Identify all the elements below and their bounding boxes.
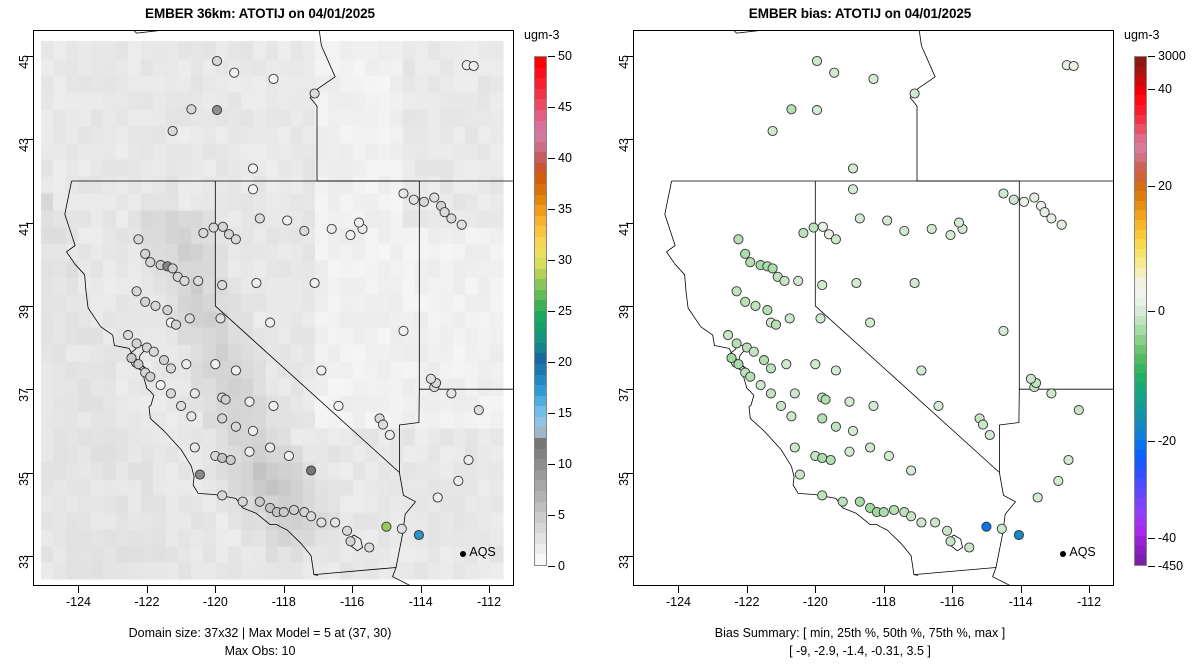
colorbar-segment	[1135, 190, 1146, 201]
station-marker[interactable]	[163, 306, 172, 315]
station-marker[interactable]	[269, 74, 278, 83]
x-tick	[815, 586, 816, 593]
station-marker[interactable]	[266, 318, 275, 327]
colorbar-segment	[535, 521, 546, 533]
colorbar-segment	[535, 352, 546, 364]
station-marker[interactable]	[818, 414, 827, 423]
station-marker[interactable]	[212, 106, 221, 115]
x-tick	[78, 586, 79, 593]
station-marker[interactable]	[231, 235, 240, 244]
station-marker[interactable]	[245, 397, 254, 406]
colorbar-segment	[535, 183, 546, 195]
station-marker[interactable]	[307, 466, 316, 475]
station-marker[interactable]	[741, 249, 750, 258]
station-marker[interactable]	[931, 518, 940, 527]
station-marker[interactable]	[433, 493, 442, 502]
station-marker[interactable]	[419, 197, 428, 206]
station-marker[interactable]	[190, 389, 199, 398]
station-marker[interactable]	[790, 389, 799, 398]
caption-model-line2: Max Obs: 10	[0, 644, 520, 658]
station-marker[interactable]	[168, 264, 177, 273]
station-marker[interactable]	[346, 231, 355, 240]
station-marker[interactable]	[866, 443, 875, 452]
colorbar-segment	[535, 204, 546, 216]
station-marker[interactable]	[848, 164, 857, 173]
station-marker[interactable]	[927, 224, 936, 233]
station-marker[interactable]	[794, 276, 803, 285]
station-marker[interactable]	[734, 235, 743, 244]
station-marker[interactable]	[195, 470, 204, 479]
station-marker[interactable]	[889, 505, 898, 514]
station-marker[interactable]	[409, 195, 418, 204]
station-marker[interactable]	[985, 430, 994, 439]
x-tick	[952, 586, 953, 593]
station-marker[interactable]	[216, 314, 225, 323]
colorbar-segment	[1135, 315, 1146, 326]
station-marker[interactable]	[430, 193, 439, 202]
station-marker[interactable]	[171, 320, 180, 329]
x-tick-label: -124	[66, 595, 91, 609]
station-marker[interactable]	[848, 185, 857, 194]
station-marker[interactable]	[134, 235, 143, 244]
station-marker[interactable]	[900, 226, 909, 235]
panel-model: EMBER 36km: ATOTIJ on 04/01/2025 AQS 454…	[0, 0, 600, 672]
map-plot-model[interactable]: AQS	[33, 30, 514, 586]
colorbar-segment	[535, 267, 546, 279]
station-marker[interactable]	[845, 397, 854, 406]
station-marker[interactable]	[1074, 406, 1083, 415]
station-marker[interactable]	[943, 526, 952, 535]
x-tick	[284, 586, 285, 593]
x-tick	[215, 586, 216, 593]
station-marker[interactable]	[869, 401, 878, 410]
colorbar-segment	[1135, 267, 1146, 278]
x-tick	[678, 586, 679, 593]
station-marker[interactable]	[848, 426, 857, 435]
station-marker[interactable]	[766, 364, 775, 373]
colorbar-segment	[535, 66, 546, 78]
station-marker[interactable]	[732, 339, 741, 348]
colorbar-segment	[1135, 56, 1146, 67]
station-marker[interactable]	[907, 512, 916, 521]
station-marker[interactable]	[365, 543, 374, 552]
station-marker[interactable]	[768, 126, 777, 135]
border-california-nevada	[215, 181, 399, 473]
station-marker[interactable]	[812, 56, 821, 65]
station-marker[interactable]	[447, 389, 456, 398]
station-marker[interactable]	[414, 530, 423, 539]
station-marker[interactable]	[831, 235, 840, 244]
station-marker[interactable]	[818, 453, 827, 462]
station-marker[interactable]	[310, 89, 319, 98]
station-marker[interactable]	[782, 360, 791, 369]
station-marker[interactable]	[248, 185, 257, 194]
colorbar-segment	[1135, 516, 1146, 527]
station-marker[interactable]	[378, 420, 387, 429]
colorbar-segment	[1135, 372, 1146, 383]
x-tick	[489, 586, 490, 593]
station-marker[interactable]	[255, 497, 264, 506]
station-marker[interactable]	[746, 258, 755, 267]
station-marker[interactable]	[756, 381, 765, 390]
colorbar-segment	[535, 373, 546, 385]
colorbar-tick	[548, 464, 555, 465]
station-marker[interactable]	[354, 218, 363, 227]
colorbar-segment	[535, 130, 546, 142]
station-marker[interactable]	[799, 228, 808, 237]
station-marker[interactable]	[787, 412, 796, 421]
station-marker[interactable]	[759, 356, 768, 365]
station-marker[interactable]	[284, 451, 293, 460]
station-marker[interactable]	[883, 216, 892, 225]
station-marker[interactable]	[221, 395, 230, 404]
station-marker[interactable]	[879, 508, 888, 517]
colorbar-segment	[535, 56, 546, 68]
station-marker[interactable]	[146, 258, 155, 267]
station-marker[interactable]	[457, 220, 466, 229]
station-marker[interactable]	[795, 470, 804, 479]
y-tick-label: 41	[17, 222, 31, 236]
y-tick-label: 37	[17, 388, 31, 402]
border-oregon-idaho	[310, 31, 335, 181]
station-marker[interactable]	[746, 372, 755, 381]
colorbar-segment	[1135, 75, 1146, 86]
station-marker[interactable]	[910, 89, 919, 98]
station-marker[interactable]	[310, 278, 319, 287]
station-marker[interactable]	[185, 314, 194, 323]
colorbar-segment	[1135, 458, 1146, 469]
x-tick-label: -122	[134, 595, 159, 609]
station-marker[interactable]	[869, 74, 878, 83]
station-marker[interactable]	[212, 56, 221, 65]
station-marker[interactable]	[474, 406, 483, 415]
station-marker[interactable]	[845, 447, 854, 456]
x-tick-label: -118	[272, 595, 296, 609]
colorbar-tick-label: -20	[1158, 434, 1176, 448]
station-marker[interactable]	[132, 287, 141, 296]
station-marker[interactable]	[255, 214, 264, 223]
colorbar-tick-label: 40	[558, 151, 572, 165]
colorbar-segment	[535, 98, 546, 110]
station-marker[interactable]	[1069, 61, 1078, 70]
station-marker[interactable]	[399, 189, 408, 198]
station-marker[interactable]	[385, 430, 394, 439]
station-marker[interactable]	[300, 226, 309, 235]
station-marker[interactable]	[327, 224, 336, 233]
colorbar-bias: ugm-3 -450-40-20020403000	[1120, 30, 1200, 586]
station-marker[interactable]	[426, 374, 435, 383]
station-marker[interactable]	[334, 401, 343, 410]
y-tick-label: 39	[617, 305, 631, 319]
station-marker[interactable]	[768, 264, 777, 273]
station-marker[interactable]	[751, 301, 760, 310]
colorbar-model-gradient	[534, 56, 547, 566]
station-marker[interactable]	[382, 522, 391, 531]
colorbar-segment	[535, 140, 546, 152]
colorbar-segment	[535, 500, 546, 512]
colorbar-segment	[535, 225, 546, 237]
station-marker[interactable]	[209, 223, 218, 232]
station-marker[interactable]	[1026, 374, 1035, 383]
station-marker[interactable]	[289, 505, 298, 514]
y-tick-label: 45	[617, 55, 631, 69]
station-marker[interactable]	[997, 524, 1006, 533]
station-marker[interactable]	[218, 222, 227, 231]
station-marker[interactable]	[283, 216, 292, 225]
station-marker[interactable]	[978, 420, 987, 429]
station-marker[interactable]	[855, 497, 864, 506]
station-marker[interactable]	[785, 314, 794, 323]
station-marker[interactable]	[741, 297, 750, 306]
colorbar-segment	[535, 447, 546, 459]
station-marker[interactable]	[226, 455, 235, 464]
station-marker[interactable]	[230, 68, 239, 77]
colorbar-tick	[548, 107, 555, 108]
colorbar-tick	[1148, 89, 1155, 90]
station-marker[interactable]	[907, 466, 916, 475]
station-marker[interactable]	[279, 508, 288, 517]
colorbar-segment	[535, 310, 546, 322]
colorbar-segment	[1135, 123, 1146, 134]
station-marker[interactable]	[780, 276, 789, 285]
colorbar-segment	[535, 342, 546, 354]
station-marker[interactable]	[469, 61, 478, 70]
colorbar-segment	[1135, 362, 1146, 373]
colorbar-segment	[1135, 554, 1146, 565]
station-marker[interactable]	[211, 360, 220, 369]
station-marker[interactable]	[1057, 220, 1066, 229]
station-marker[interactable]	[248, 426, 257, 435]
station-marker[interactable]	[866, 318, 875, 327]
station-marker[interactable]	[809, 223, 818, 232]
station-marker[interactable]	[166, 389, 175, 398]
map-plot-bias[interactable]: AQS	[633, 30, 1114, 586]
station-marker[interactable]	[132, 339, 141, 348]
station-marker[interactable]	[187, 105, 196, 114]
x-tick-label: -112	[477, 595, 501, 609]
colorbar-segment	[1135, 161, 1146, 172]
station-marker[interactable]	[166, 364, 175, 373]
station-marker[interactable]	[231, 366, 240, 375]
station-marker[interactable]	[818, 281, 827, 290]
colorbar-segment	[535, 553, 546, 565]
station-marker[interactable]	[999, 189, 1008, 198]
colorbar-segment	[1135, 353, 1146, 364]
colorbar-tick	[1148, 311, 1155, 312]
station-marker[interactable]	[1064, 455, 1073, 464]
station-marker[interactable]	[218, 491, 227, 500]
station-marker[interactable]	[855, 214, 864, 223]
station-marker[interactable]	[831, 366, 840, 375]
station-marker[interactable]	[1019, 197, 1028, 206]
colorbar-segment	[535, 320, 546, 332]
station-marker[interactable]	[159, 356, 168, 365]
station-marker[interactable]	[917, 518, 926, 527]
colorbar-segment	[1135, 238, 1146, 249]
y-tick-label: 43	[617, 138, 631, 152]
station-marker[interactable]	[724, 331, 733, 340]
colorbar-segment	[535, 236, 546, 248]
border-mexico	[914, 568, 1113, 586]
aqs-legend-label: AQS	[1069, 545, 1095, 559]
station-marker[interactable]	[884, 451, 893, 460]
colorbar-tick-label: 50	[558, 49, 572, 63]
colorbar-tick	[1148, 538, 1155, 539]
station-marker[interactable]	[218, 281, 227, 290]
colorbar-segment	[535, 215, 546, 227]
station-marker[interactable]	[946, 537, 955, 546]
colorbar-segment	[1135, 276, 1146, 287]
station-marker[interactable]	[199, 228, 208, 237]
colorbar-tick-label: 25	[558, 304, 572, 318]
colorbar-segment	[1135, 535, 1146, 546]
station-marker[interactable]	[999, 326, 1008, 335]
station-marker[interactable]	[910, 278, 919, 287]
station-marker[interactable]	[790, 443, 799, 452]
station-marker[interactable]	[454, 476, 463, 485]
x-tick-label: -114	[409, 595, 433, 609]
colorbar-segment	[535, 299, 546, 311]
colorbar-model-unit: ugm-3	[524, 28, 559, 42]
station-marker[interactable]	[816, 314, 825, 323]
colorbar-segment	[1135, 295, 1146, 306]
station-marker[interactable]	[266, 443, 275, 452]
station-marker[interactable]	[156, 381, 165, 390]
station-marker[interactable]	[771, 320, 780, 329]
station-marker[interactable]	[734, 360, 743, 369]
colorbar-segment	[1135, 257, 1146, 268]
station-marker[interactable]	[134, 360, 143, 369]
station-marker[interactable]	[811, 360, 820, 369]
colorbar-segment	[535, 532, 546, 544]
colorbar-segment	[1135, 545, 1146, 556]
colorbar-tick-label: 10	[558, 457, 572, 471]
station-marker[interactable]	[182, 360, 191, 369]
x-tick	[421, 586, 422, 593]
station-marker[interactable]	[447, 214, 456, 223]
x-tick	[884, 586, 885, 593]
station-marker[interactable]	[1047, 389, 1056, 398]
station-marker[interactable]	[149, 347, 158, 356]
station-marker[interactable]	[187, 412, 196, 421]
station-marker[interactable]	[818, 491, 827, 500]
station-marker[interactable]	[231, 422, 240, 431]
station-marker[interactable]	[831, 422, 840, 431]
station-marker[interactable]	[248, 164, 257, 173]
station-marker[interactable]	[917, 366, 926, 375]
station-marker[interactable]	[218, 453, 227, 462]
station-marker[interactable]	[946, 231, 955, 240]
station-marker[interactable]	[307, 512, 316, 521]
border-oregon-idaho	[910, 31, 935, 181]
station-marker[interactable]	[826, 455, 835, 464]
station-marker[interactable]	[124, 331, 133, 340]
colorbar-segment	[1135, 171, 1146, 182]
station-marker[interactable]	[830, 68, 839, 77]
caption-bias-line2: [ -9, -2.9, -1.4, -0.31, 3.5 ]	[600, 644, 1120, 658]
station-marker[interactable]	[965, 543, 974, 552]
station-marker[interactable]	[317, 518, 326, 527]
colorbar-segment	[535, 490, 546, 502]
station-marker[interactable]	[141, 297, 150, 306]
colorbar-tick-label: 20	[558, 355, 572, 369]
colorbar-segment	[1135, 430, 1146, 441]
station-marker[interactable]	[331, 518, 340, 527]
station-marker[interactable]	[777, 401, 786, 410]
station-marker[interactable]	[269, 401, 278, 410]
station-marker[interactable]	[146, 372, 155, 381]
x-tick	[147, 586, 148, 593]
station-marker[interactable]	[821, 395, 830, 404]
coastline-pacific	[65, 181, 318, 575]
colorbar-segment	[535, 405, 546, 417]
colorbar-segment	[535, 437, 546, 449]
station-marker[interactable]	[1030, 193, 1039, 202]
station-marker[interactable]	[838, 497, 847, 506]
colorbar-segment	[1135, 343, 1146, 354]
colorbar-segment	[1135, 401, 1146, 412]
station-marker[interactable]	[1014, 530, 1023, 539]
station-marker[interactable]	[177, 401, 186, 410]
station-marker[interactable]	[397, 524, 406, 533]
colorbar-segment	[535, 363, 546, 375]
station-marker[interactable]	[190, 443, 199, 452]
station-marker[interactable]	[1047, 214, 1056, 223]
colorbar-segment	[1135, 497, 1146, 508]
station-marker[interactable]	[252, 278, 261, 287]
station-marker[interactable]	[1009, 195, 1018, 204]
colorbar-segment	[1135, 305, 1146, 316]
station-marker[interactable]	[141, 249, 150, 258]
station-marker[interactable]	[934, 401, 943, 410]
station-marker[interactable]	[1054, 476, 1063, 485]
station-marker[interactable]	[464, 455, 473, 464]
station-marker[interactable]	[168, 126, 177, 135]
colorbar-segment	[535, 278, 546, 290]
colorbar-tick-label: 3000	[1158, 49, 1186, 63]
station-marker[interactable]	[787, 105, 796, 114]
colorbar-tick-label: 35	[558, 202, 572, 216]
colorbar-segment	[1135, 142, 1146, 153]
station-marker[interactable]	[732, 287, 741, 296]
y-tick-label: 39	[17, 305, 31, 319]
station-marker[interactable]	[763, 306, 772, 315]
station-marker[interactable]	[343, 526, 352, 535]
colorbar-tick-label: 5	[558, 508, 565, 522]
station-marker[interactable]	[852, 278, 861, 287]
station-marker[interactable]	[180, 276, 189, 285]
station-marker[interactable]	[151, 301, 160, 310]
station-marker[interactable]	[982, 522, 991, 531]
station-marker[interactable]	[766, 389, 775, 398]
station-marker[interactable]	[954, 218, 963, 227]
station-marker[interactable]	[749, 347, 758, 356]
station-marker[interactable]	[238, 497, 247, 506]
panel-title-model: EMBER 36km: ATOTIJ on 04/01/2025	[0, 6, 520, 21]
station-marker[interactable]	[346, 537, 355, 546]
station-marker[interactable]	[194, 276, 203, 285]
station-marker[interactable]	[1033, 493, 1042, 502]
station-marker[interactable]	[245, 447, 254, 456]
station-marker[interactable]	[818, 222, 827, 231]
colorbar-tick-label: -40	[1158, 531, 1176, 545]
station-marker[interactable]	[399, 326, 408, 335]
station-marker[interactable]	[812, 106, 821, 115]
station-marker[interactable]	[218, 414, 227, 423]
x-tick-label: -116	[340, 595, 364, 609]
station-marker[interactable]	[317, 366, 326, 375]
figure-root: EMBER 36km: ATOTIJ on 04/01/2025 AQS 454…	[0, 0, 1200, 672]
